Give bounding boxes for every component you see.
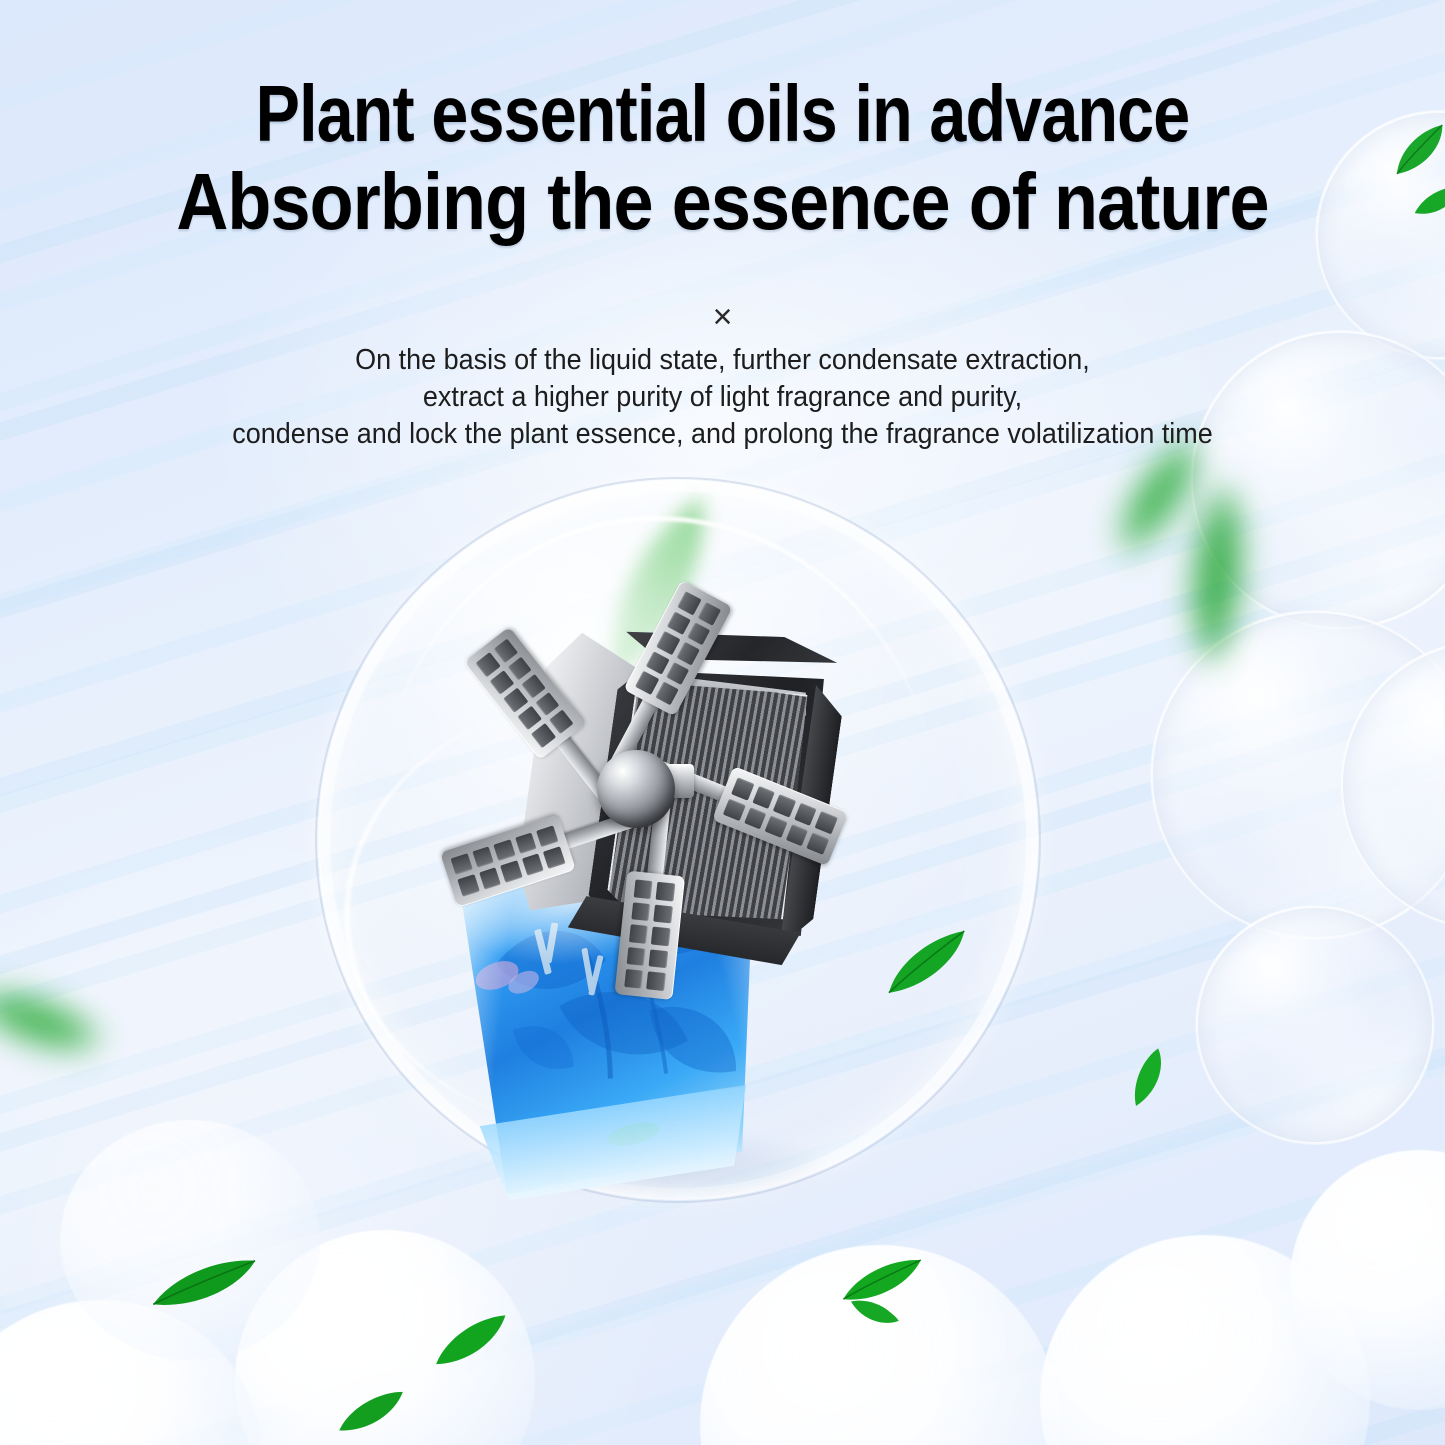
windmill-blades <box>412 550 832 970</box>
blade-vane <box>440 814 576 907</box>
body-copy: On the basis of the liquid state, furthe… <box>0 342 1445 453</box>
blade-vane <box>712 766 849 866</box>
headline-line-2: Absorbing the essence of nature <box>72 160 1373 244</box>
body-copy-line-1: On the basis of the liquid state, furthe… <box>51 342 1395 379</box>
product-illustration <box>380 520 980 1220</box>
banner-canvas: Plant essential oils in advance Absorbin… <box>0 0 1445 1445</box>
body-copy-line-3: condense and lock the plant essence, and… <box>51 416 1395 453</box>
blade-vane <box>623 580 732 717</box>
bubble-left-mist <box>60 1120 320 1360</box>
divider-x-mark: × <box>0 300 1445 334</box>
body-copy-line-2: extract a higher purity of light fragran… <box>51 379 1395 416</box>
headline-line-1: Plant essential oils in advance <box>123 72 1322 156</box>
windmill-hub <box>597 750 675 828</box>
bubble-right-lower <box>1195 905 1435 1145</box>
